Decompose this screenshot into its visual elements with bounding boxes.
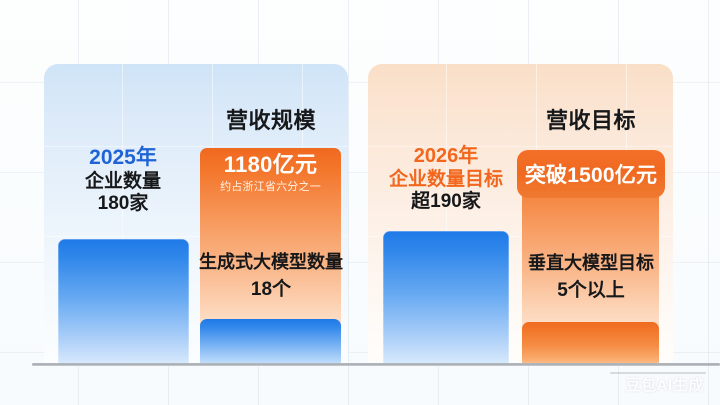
stat-vertical-model-value: 5个以上 <box>510 280 672 302</box>
bar-2026-vertical-model-target <box>522 322 659 364</box>
stat-genai-model-label: 生成式大模型数量 <box>184 252 358 273</box>
stat-2025-year-label: 2025年 <box>56 146 190 171</box>
watermark-label: 豆包AI生成 <box>625 374 704 395</box>
stat-2025-enterprise: 2025年 企业数量 180家 <box>56 146 190 216</box>
infographic-canvas: 2025年 企业数量 180家 营收规模 1180亿元 约占浙江省六分之一 生成… <box>0 0 720 405</box>
label-revenue-scale-amount: 1180亿元 <box>200 152 341 178</box>
label-revenue-scale-value: 1180亿元 约占浙江省六分之一 <box>200 152 341 194</box>
badge-revenue-target-label: 突破1500亿元 <box>525 159 657 189</box>
headline-revenue-target: 营收目标 <box>520 108 662 134</box>
headline-revenue-target-label: 营收目标 <box>520 108 662 134</box>
stat-genai-model-count: 生成式大模型数量 18个 <box>184 252 358 302</box>
chart-baseline <box>32 363 720 366</box>
stat-vertical-model-target: 垂直大模型目标 5个以上 <box>510 253 672 303</box>
stat-2026-year-label: 2026年 <box>379 145 513 169</box>
label-revenue-scale-note: 约占浙江省六分之一 <box>200 181 341 194</box>
stat-genai-model-value: 18个 <box>184 279 358 301</box>
headline-revenue-scale: 营收规模 <box>198 108 344 134</box>
badge-revenue-target: 突破1500亿元 <box>517 150 665 198</box>
stat-2026-metric-label: 企业数量目标 <box>379 169 513 191</box>
stat-2025-value-label: 180家 <box>56 193 190 215</box>
stat-vertical-model-label: 垂直大模型目标 <box>510 253 672 274</box>
headline-revenue-scale-label: 营收规模 <box>198 108 344 134</box>
bar-2025-genai-model-count <box>200 319 341 364</box>
stat-2026-enterprise: 2026年 企业数量目标 超190家 <box>379 145 513 213</box>
bar-2025-enterprise-count <box>58 239 189 364</box>
bar-2026-enterprise-target <box>383 231 509 364</box>
stat-2025-metric-label: 企业数量 <box>56 171 190 193</box>
stat-2026-value-label: 超190家 <box>379 191 513 213</box>
